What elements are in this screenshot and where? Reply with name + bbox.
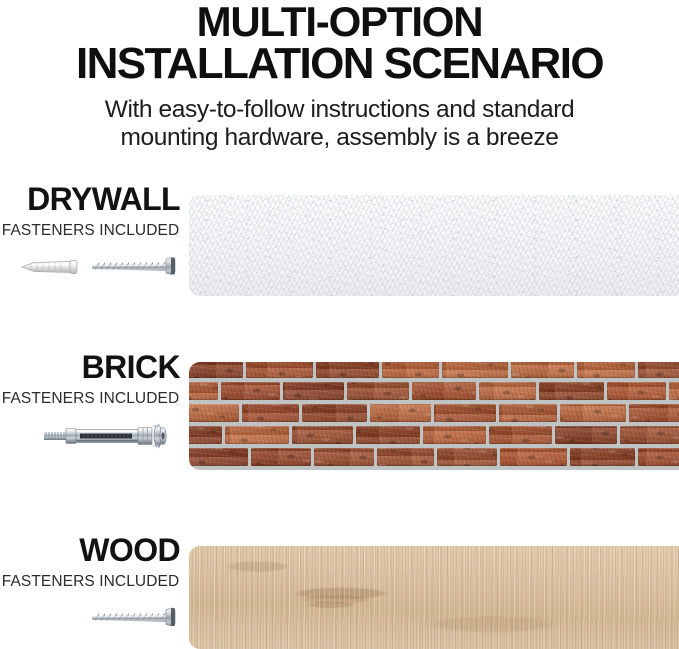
brick-unit — [225, 426, 289, 444]
material-row-wood: WOOD FASTENERS INCLUDED — [0, 533, 679, 649]
brick-unit — [251, 448, 311, 466]
brick-hardware-illustration — [0, 418, 184, 456]
brick-unit — [607, 382, 666, 400]
brick-unit — [377, 448, 434, 466]
fasteners-included-brick: FASTENERS INCLUDED — [0, 384, 184, 407]
brick-unit — [577, 362, 635, 378]
brick-unit — [314, 448, 374, 466]
page-subtitle: With easy-to-follow instructions and sta… — [0, 85, 679, 152]
drywall-surface — [189, 195, 679, 296]
wood-screw-icon — [92, 608, 175, 626]
brick-unit — [382, 362, 439, 378]
brick-unit — [292, 426, 353, 444]
brick-unit — [302, 404, 367, 422]
brick-unit — [629, 404, 679, 422]
brick-unit — [539, 382, 604, 400]
brick-unit — [242, 404, 299, 422]
brick-label-column: BRICK FASTENERS INCLUDED — [0, 350, 184, 452]
brick-course — [189, 468, 648, 470]
brick-unit — [489, 426, 552, 444]
hardware-drywall — [0, 250, 184, 284]
brick-unit — [189, 448, 248, 466]
brick-course — [189, 424, 648, 446]
fasteners-included-drywall: FASTENERS INCLUDED — [0, 216, 184, 239]
brick-unit — [434, 404, 496, 422]
brick-unit — [316, 362, 379, 378]
brick-unit — [423, 426, 486, 444]
brick-unit — [570, 448, 635, 466]
brick-unit — [442, 362, 508, 378]
brick-unit — [499, 404, 557, 422]
brick-unit — [189, 404, 239, 422]
brick-unit — [356, 426, 420, 444]
drywall-texture-swatch — [189, 195, 679, 296]
title-line-2: INSTALLATION SCENARIO — [0, 43, 679, 85]
brick-unit — [283, 382, 344, 400]
wood-surface — [189, 546, 679, 649]
page-title: MULTI-OPTION INSTALLATION SCENARIO — [0, 0, 679, 85]
subtitle-line-1: With easy-to-follow instructions and sta… — [105, 96, 575, 123]
brick-course — [189, 446, 669, 468]
brick-unit — [347, 382, 409, 400]
page-header: MULTI-OPTION INSTALLATION SCENARIO With … — [0, 0, 679, 152]
brick-unit — [189, 362, 243, 378]
brick-unit — [620, 426, 679, 444]
brick-unit — [500, 448, 567, 466]
brick-unit — [221, 382, 280, 400]
brick-unit — [189, 426, 222, 444]
fasteners-included-wood: FASTENERS INCLUDED — [0, 567, 184, 590]
brick-course — [189, 402, 669, 424]
brick-unit — [189, 382, 218, 400]
wood-label-column: WOOD FASTENERS INCLUDED — [0, 533, 184, 635]
screw-icon — [92, 258, 175, 275]
brick-unit — [638, 448, 679, 466]
material-name-drywall: DRYWALL — [0, 182, 184, 216]
hardware-wood — [0, 601, 184, 635]
drywall-hardware-illustration — [0, 250, 184, 284]
brick-unit — [412, 382, 476, 400]
subtitle-line-2: mounting hardware, assembly is a breeze — [121, 124, 559, 151]
brick-unit — [246, 362, 313, 378]
brick-unit — [555, 426, 617, 444]
wall-anchor-plug-icon — [22, 261, 77, 274]
material-row-drywall: DRYWALL FASTENERS INCLUDED — [0, 182, 679, 307]
brick-unit — [669, 382, 679, 400]
brick-unit — [560, 404, 626, 422]
brick-course — [189, 362, 669, 380]
brick-unit — [370, 404, 431, 422]
wood-texture-swatch — [189, 546, 679, 649]
brick-unit — [511, 362, 574, 378]
material-name-brick: BRICK — [0, 350, 184, 384]
hardware-brick — [0, 418, 184, 452]
brick-unit — [638, 362, 679, 378]
brick-unit — [437, 448, 497, 466]
brick-unit — [479, 382, 536, 400]
brick-course — [189, 380, 648, 402]
material-name-wood: WOOD — [0, 533, 184, 567]
wood-hardware-illustration — [0, 601, 184, 631]
material-row-brick: BRICK FASTENERS INCLUDED — [0, 350, 679, 475]
brick-surface — [189, 362, 679, 470]
brick-texture-swatch — [189, 362, 679, 470]
drywall-label-column: DRYWALL FASTENERS INCLUDED — [0, 182, 184, 284]
sleeve-expansion-anchor-icon — [44, 424, 166, 449]
